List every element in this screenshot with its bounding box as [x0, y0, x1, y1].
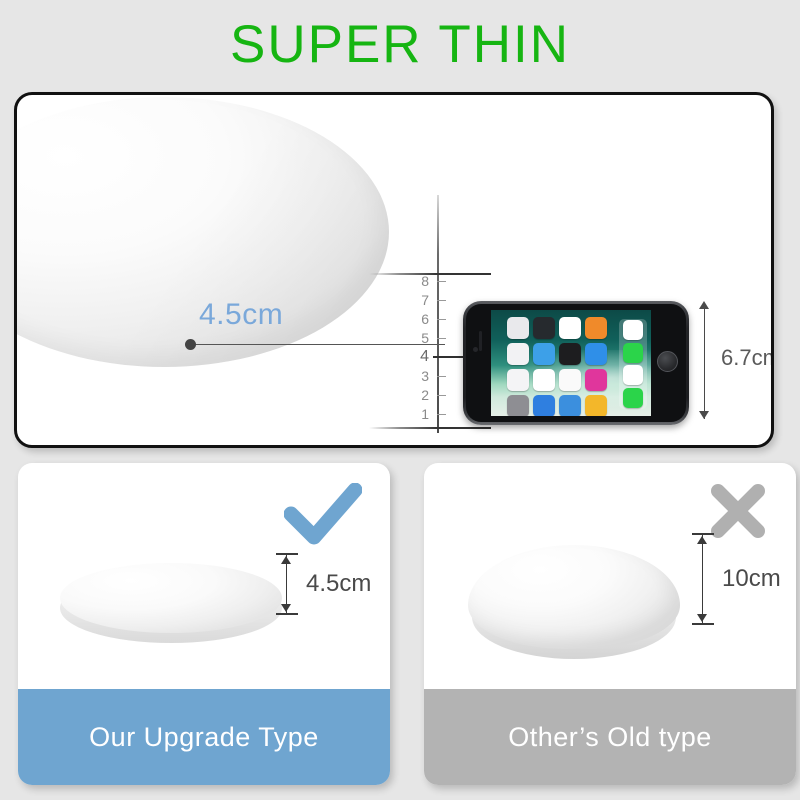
dimension-cap-top: [692, 533, 714, 535]
arrow-up-icon: [699, 301, 709, 309]
home-button-icon: [657, 351, 678, 372]
ruler-tick-mark: [437, 338, 446, 339]
close-x-icon: [708, 481, 768, 541]
phone-camera-icon: [473, 347, 478, 352]
dimension-cap-bottom: [276, 613, 298, 615]
app-icon: [559, 317, 581, 339]
thin-disc-top-face: [60, 563, 282, 633]
check-icon: [284, 483, 362, 545]
app-icon: [507, 343, 529, 365]
ruler-tick-label: 1: [421, 406, 429, 423]
thin-disc-height-dimension: 4.5cm: [276, 553, 390, 615]
app-icon: [507, 395, 529, 416]
app-icon: [507, 369, 529, 391]
ruler-bottom-guide-line: [369, 427, 491, 429]
ruler-tick-mark: [437, 395, 446, 396]
comparison-card-old: 10cm Other’s Old type: [424, 463, 796, 785]
ruler-tick-mark: [437, 319, 446, 320]
callout-dot-icon: [185, 339, 196, 350]
arrow-up-icon: [697, 536, 707, 544]
dimension-cap-bottom: [692, 623, 714, 625]
comparison-card-upgrade: 4.5cm Our Upgrade Type: [18, 463, 390, 785]
app-icon: [585, 395, 607, 416]
phone-height-label: 6.7cm: [721, 345, 774, 371]
phone-dock: [619, 319, 647, 409]
arrow-down-icon: [699, 411, 709, 419]
iphone-device: [463, 301, 689, 425]
app-icon: [585, 343, 607, 365]
thin-disc-height-label: 4.5cm: [306, 570, 371, 598]
app-icon: [507, 317, 529, 339]
app-icon: [559, 343, 581, 365]
app-icon: [533, 343, 555, 365]
ruler-tick-label: 7: [421, 292, 429, 309]
dimension-cap-top: [276, 553, 298, 555]
app-icon: [533, 369, 555, 391]
card-footer-label: Other’s Old type: [508, 722, 712, 753]
ruler-tick-row: 3: [389, 368, 465, 385]
product-thin-disc: [60, 563, 282, 653]
ruler-tick-row: 1: [389, 406, 465, 423]
arrow-up-icon: [281, 556, 291, 564]
card-body: 4.5cm: [18, 463, 390, 689]
card-footer-label: Our Upgrade Type: [89, 722, 319, 753]
thick-disc-dome: [468, 545, 680, 649]
ruler-tick-label: 5: [421, 330, 429, 347]
app-icon: [533, 395, 555, 416]
dock-icon: [623, 320, 643, 340]
measuring-ruler: 8 7 6 5 4 3 2 1: [369, 195, 469, 445]
dimension-line: [702, 535, 703, 623]
card-body: 10cm: [424, 463, 796, 689]
hero-panel: 4.5cm 8 7 6 5 4 3: [14, 92, 774, 448]
ruler-tick-label: 2: [421, 387, 429, 404]
app-icon: [533, 317, 555, 339]
ruler-tick-label: 4: [420, 348, 429, 365]
ruler-tick-row: 7: [389, 292, 465, 309]
ruler-tick-mark: [437, 414, 446, 415]
app-icon: [585, 317, 607, 339]
ruler-tick-label: 6: [421, 311, 429, 328]
app-icon: [559, 369, 581, 391]
arrow-down-icon: [697, 614, 707, 622]
thick-disc-height-dimension: 10cm: [692, 533, 796, 625]
ruler-tick-row: 6: [389, 311, 465, 328]
arrow-down-icon: [281, 604, 291, 612]
card-footer-upgrade: Our Upgrade Type: [18, 689, 390, 785]
phone-speaker-icon: [479, 331, 482, 351]
product-thick-disc: [468, 545, 680, 665]
phone-screen: [491, 310, 651, 416]
ruler-tick-row-active: 4: [389, 348, 465, 365]
app-icon: [559, 395, 581, 416]
ruler-tick-mark: [437, 281, 446, 282]
ruler-tick-row: 2: [389, 387, 465, 404]
title-bar: SUPER THIN: [0, 14, 800, 76]
disc-thickness-label: 4.5cm: [199, 298, 283, 332]
ruler-tick-row: 5: [389, 330, 465, 347]
card-footer-old: Other’s Old type: [424, 689, 796, 785]
phone-height-dimension: 6.7cm: [697, 299, 774, 427]
ruler-tick-mark: [437, 376, 446, 377]
dock-icon: [623, 343, 643, 363]
dock-icon: [623, 388, 643, 408]
dock-icon: [623, 365, 643, 385]
ruler-tick-row: 8: [389, 273, 465, 290]
ruler-tick-mark: [437, 300, 446, 301]
home-screen-app-grid: [507, 317, 611, 416]
dimension-line: [704, 307, 705, 419]
ruler-tick-label: 3: [421, 368, 429, 385]
app-icon: [585, 369, 607, 391]
ruler-tick-label: 8: [421, 273, 429, 290]
thick-disc-height-label: 10cm: [722, 565, 781, 593]
page-title: SUPER THIN: [0, 14, 800, 76]
